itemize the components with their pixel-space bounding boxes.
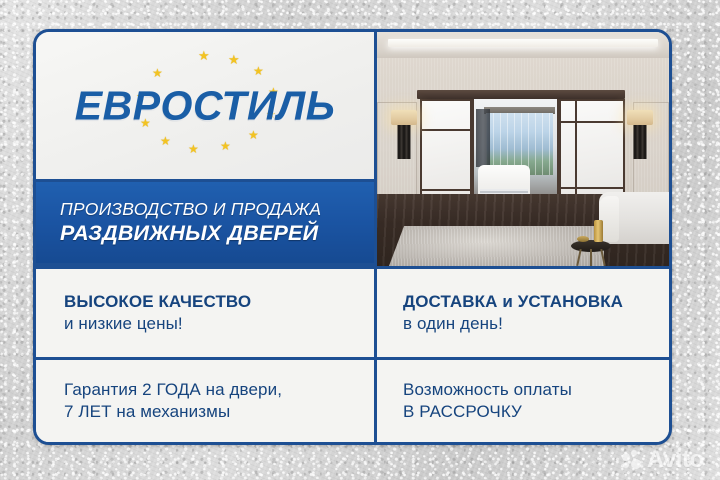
logo-block: ★ ★ ★ ★ ★ ★ ★ ★ ★ ★ ★ ★ [36,32,374,179]
card-top-row: ★ ★ ★ ★ ★ ★ ★ ★ ★ ★ ★ ★ [36,32,669,266]
door-track [417,90,625,99]
feature-delivery-line-2: в один день! [403,313,669,335]
feature-quality: ВЫСОКОЕ КАЧЕСТВО и низкие цены! [36,269,374,357]
feature-quality-line-2: и низкие цены! [64,313,374,335]
feature-installment-line-2: В РАССРОЧКУ [403,401,669,423]
side-table-legs [575,249,607,266]
feature-warranty-line-2: 7 ЛЕТ на механизмы [64,401,374,423]
interior-photo [377,32,669,266]
card-middle-row: ВЫСОКОЕ КАЧЕСТВО и низкие цены! ДОСТАВКА… [36,266,669,357]
advert-card: ★ ★ ★ ★ ★ ★ ★ ★ ★ ★ ★ ★ [33,29,672,445]
feature-quality-line-1: ВЫСОКОЕ КАЧЕСТВО [64,291,374,313]
card-bottom-row: Гарантия 2 ГОДА на двери, 7 ЛЕТ на механ… [36,357,669,442]
feature-delivery-line-1: ДОСТАВКА и УСТАНОВКА [403,291,669,313]
sofa [599,192,669,244]
feature-installment-line-1: Возможность оплаты [403,379,669,401]
gold-bowl [577,236,589,242]
feature-delivery: ДОСТАВКА и УСТАНОВКА в один день! [374,269,669,357]
feature-warranty-line-1: Гарантия 2 ГОДА на двери, [64,379,374,401]
feature-warranty: Гарантия 2 ГОДА на двери, 7 ЛЕТ на механ… [36,360,374,442]
interior-photo-column [374,32,669,266]
headline-line-2: РАЗДВИЖНЫХ ДВЕРЕЙ [60,221,374,247]
brand-wordmark: ЕВРОСТИЛЬ [60,82,350,129]
wall-sconce-right [627,110,653,125]
wall-sconce-left [391,110,417,125]
headline-line-1: ПРОИЗВОДСТВО И ПРОДАЖА [60,199,374,219]
brand-column: ★ ★ ★ ★ ★ ★ ★ ★ ★ ★ ★ ★ [36,32,374,266]
headline-banner: ПРОИЗВОДСТВО И ПРОДАЖА РАЗДВИЖНЫХ ДВЕРЕЙ [36,179,374,266]
cove-light [388,39,658,47]
gold-vase [594,220,603,242]
feature-installment: Возможность оплаты В РАССРОЧКУ [374,360,669,442]
